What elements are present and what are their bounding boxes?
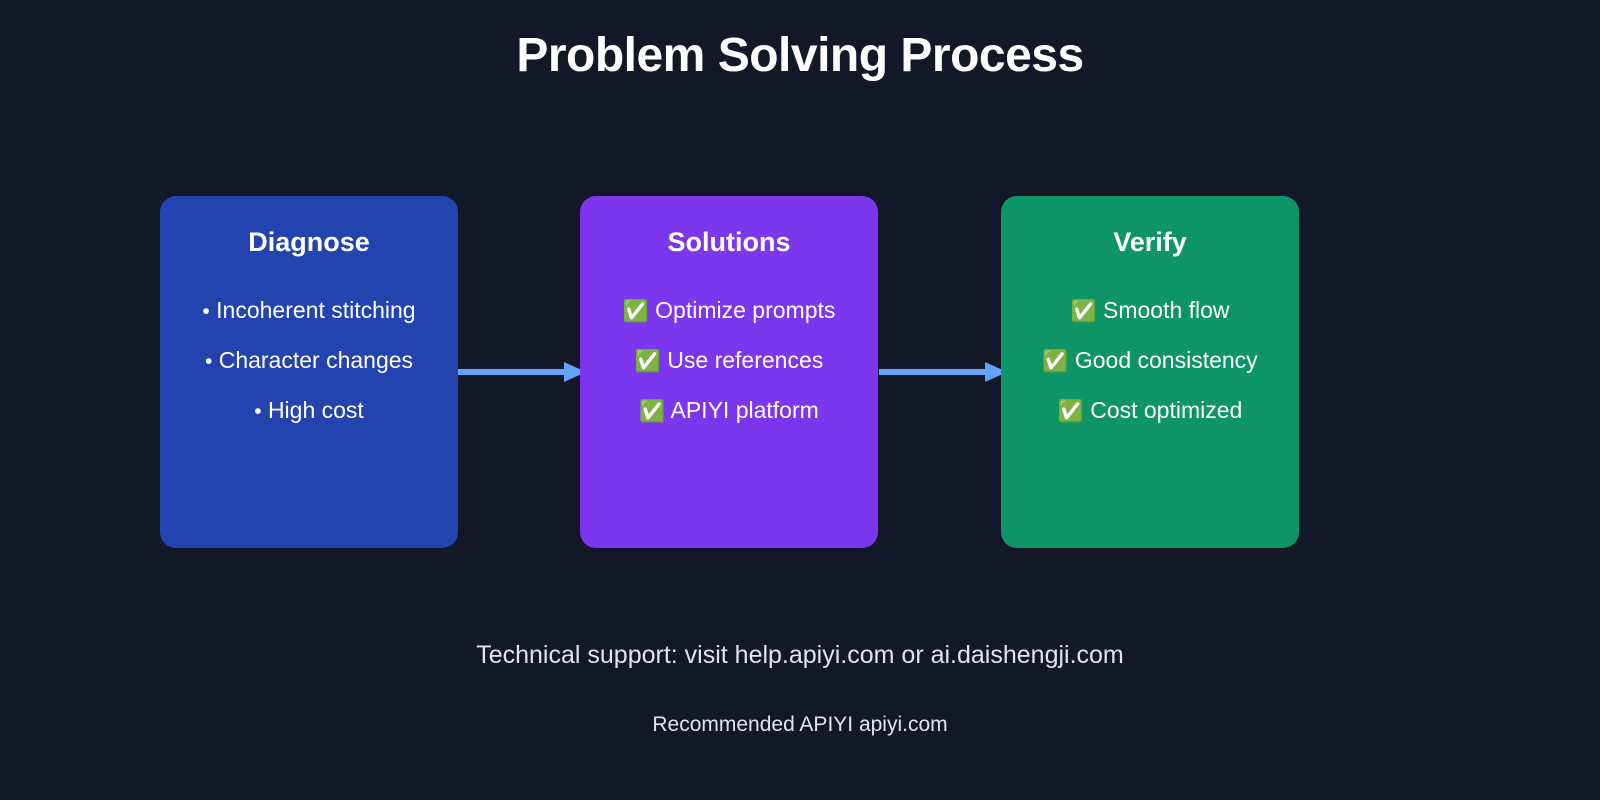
footer-recommendation-text: Recommended APIYI apiyi.com (0, 713, 1600, 737)
bullet-icon: • (205, 350, 212, 373)
stage-card-diagnose: Diagnose • Incoherent stitching • Charac… (160, 196, 458, 548)
list-item: ✅ Cost optimized (1001, 386, 1299, 436)
stage-item-list-diagnose: • Incoherent stitching • Character chang… (160, 286, 458, 436)
check-mark-icon: ✅ (1058, 400, 1084, 423)
arrow-shaft (458, 369, 568, 375)
process-flow-diagram: Diagnose • Incoherent stitching • Charac… (160, 196, 1295, 548)
list-item: • Character changes (160, 336, 458, 386)
stage-title-diagnose: Diagnose (160, 226, 458, 258)
stage-item-list-verify: ✅ Smooth flow ✅ Good consistency ✅ Cost … (1001, 286, 1299, 436)
stage-item-list-solutions: ✅ Optimize prompts ✅ Use references ✅ AP… (580, 286, 878, 436)
bullet-icon: • (202, 300, 209, 323)
list-item: • Incoherent stitching (160, 286, 458, 336)
arrow-shaft (879, 369, 989, 375)
check-mark-icon: ✅ (1070, 300, 1096, 323)
list-item-label: High cost (268, 397, 364, 423)
check-mark-icon: ✅ (623, 300, 649, 323)
list-item-label: Optimize prompts (655, 297, 835, 323)
list-item: ✅ Use references (580, 336, 878, 386)
page-title: Problem Solving Process (0, 28, 1600, 83)
list-item: • High cost (160, 386, 458, 436)
bullet-icon: • (254, 400, 261, 423)
list-item-label: Character changes (219, 347, 413, 373)
list-item-label: APIYI platform (671, 397, 819, 423)
list-item: ✅ Smooth flow (1001, 286, 1299, 336)
footer-support-text: Technical support: visit help.apiyi.com … (0, 641, 1600, 670)
arrow-diagnose-to-solutions (458, 362, 586, 382)
stage-title-verify: Verify (1001, 226, 1299, 258)
check-mark-icon: ✅ (639, 400, 665, 423)
list-item-label: Smooth flow (1103, 297, 1230, 323)
list-item: ✅ Good consistency (1001, 336, 1299, 386)
stage-title-solutions: Solutions (580, 226, 878, 258)
list-item-label: Cost optimized (1090, 397, 1242, 423)
list-item: ✅ APIYI platform (580, 386, 878, 436)
arrow-solutions-to-verify (879, 362, 1007, 382)
list-item-label: Use references (667, 347, 823, 373)
list-item-label: Incoherent stitching (216, 297, 415, 323)
list-item: ✅ Optimize prompts (580, 286, 878, 336)
check-mark-icon: ✅ (1042, 350, 1068, 373)
check-mark-icon: ✅ (635, 350, 661, 373)
stage-card-verify: Verify ✅ Smooth flow ✅ Good consistency … (1001, 196, 1299, 548)
list-item-label: Good consistency (1075, 347, 1258, 373)
stage-card-solutions: Solutions ✅ Optimize prompts ✅ Use refer… (580, 196, 878, 548)
